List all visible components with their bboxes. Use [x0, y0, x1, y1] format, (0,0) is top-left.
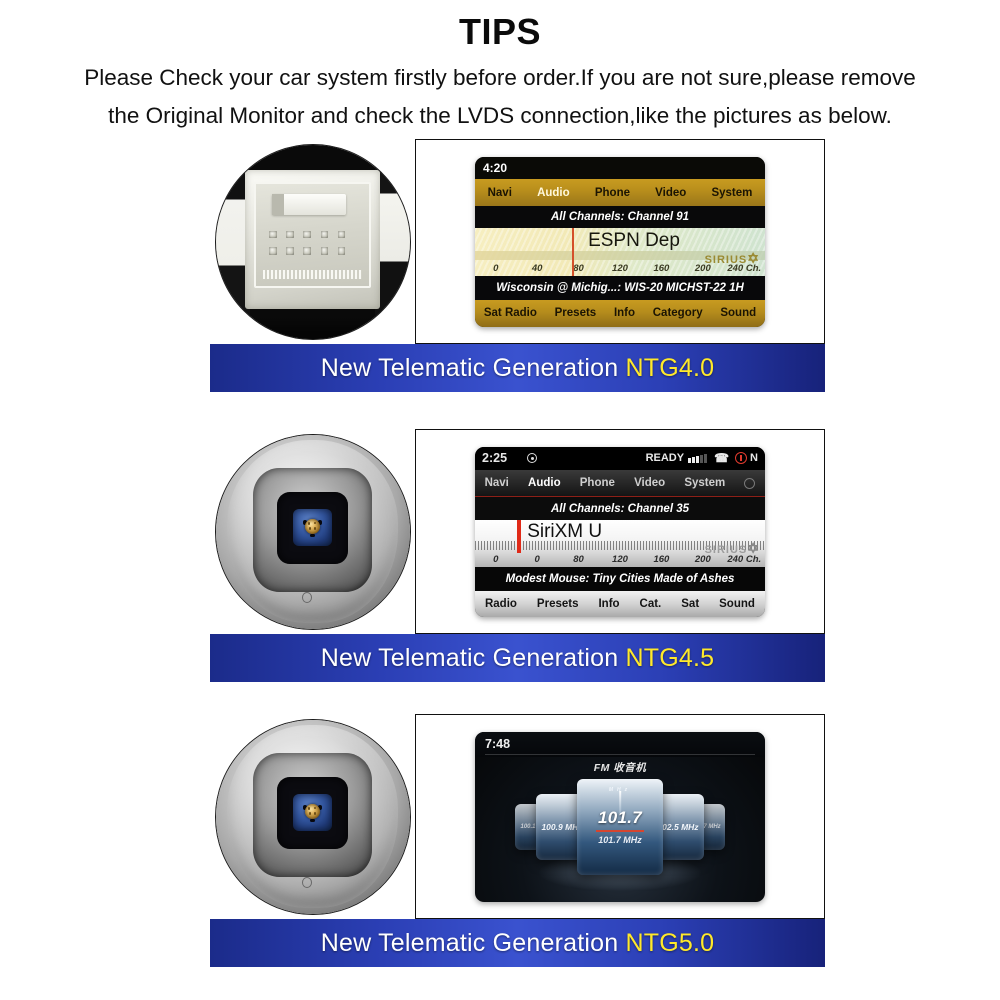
- tuner-needle-ntg45[interactable]: [517, 520, 521, 554]
- panel-ntg40-top: 4:20 Navi Audio Phone Video System All C…: [210, 139, 825, 344]
- status-ready-label: READY: [646, 452, 685, 464]
- banner-code-ntg40: NTG4.0: [625, 354, 714, 382]
- tuner-needle-ntg40[interactable]: [572, 228, 574, 276]
- head-unit-screen-ntg40: 4:20 Navi Audio Phone Video System All C…: [475, 157, 765, 327]
- page-title: TIPS: [0, 0, 1000, 51]
- bottom-item-info[interactable]: Info: [614, 307, 635, 319]
- tick-80: 80: [558, 263, 599, 274]
- bottom-item-presets[interactable]: Presets: [555, 307, 597, 319]
- banner-prefix-ntg45: New Telematic Generation: [321, 644, 619, 672]
- tick-240: 240 Ch.: [724, 554, 765, 565]
- bottom-item-cat[interactable]: Cat.: [640, 598, 662, 610]
- tick-120: 120: [599, 554, 640, 565]
- gold-center-pin-icon: [305, 519, 320, 534]
- warning-icon: [735, 452, 747, 464]
- banner-text-ntg40: New Telematic Generation NTG4.0: [321, 354, 714, 383]
- tick-b: 0: [516, 554, 557, 565]
- screen-frame-ntg45: 2:25 READY ☎ N Navi Audio Phone Video: [415, 429, 825, 634]
- frequency-carousel[interactable]: 100.1 100.9 MHz MHz 101.7 101.7 MHz: [475, 783, 765, 871]
- menu-item-phone[interactable]: Phone: [580, 477, 615, 489]
- globe-icon: [744, 478, 755, 489]
- bottom-item-presets[interactable]: Presets: [537, 598, 579, 610]
- connector-badge-icon: [302, 877, 312, 888]
- connector-badge-icon: [302, 592, 312, 603]
- clock-ntg40: 4:20: [483, 161, 507, 175]
- status-bar-ntg45: 2:25 READY ☎ N: [475, 447, 765, 471]
- connector-photo-cell-ntg45: [210, 429, 415, 634]
- menu-item-video[interactable]: Video: [634, 477, 665, 489]
- current-frequency-unit: 101.7 MHz: [598, 835, 642, 845]
- lvds-connector-icon: [216, 145, 410, 339]
- connector-photo-cell-ntg40: [210, 139, 415, 344]
- ticker-ntg45: Modest Mouse: Tiny Cities Made of Ashes: [475, 567, 765, 591]
- frequency-underline: [596, 830, 644, 832]
- channel-line-ntg40: All Channels: Channel 91: [475, 206, 765, 228]
- banner-ntg40: New Telematic Generation NTG4.0: [210, 344, 825, 392]
- bottom-bar-ntg40: Sat Radio Presets Info Category Sound: [475, 300, 765, 326]
- banner-prefix-ntg40: New Telematic Generation: [321, 354, 619, 382]
- banner-prefix-ntg50: New Telematic Generation: [321, 929, 619, 957]
- banner-code-ntg50: NTG5.0: [625, 929, 714, 957]
- bottom-item-sound[interactable]: Sound: [720, 307, 756, 319]
- menu-bar-ntg40: Navi Audio Phone Video System: [475, 179, 765, 205]
- tick-160: 160: [641, 263, 682, 274]
- bottom-item-radio[interactable]: Radio: [485, 598, 517, 610]
- tick-160: 160: [641, 554, 682, 565]
- header: TIPS Please Check your car system firstl…: [0, 0, 1000, 132]
- signal-bars-icon: [688, 454, 707, 463]
- bottom-item-category[interactable]: Category: [653, 307, 703, 319]
- tick-80: 80: [558, 554, 599, 565]
- head-unit-screen-ntg50: 7:48 FM 收音机 100.1 100.9 MHz MHz: [475, 732, 765, 902]
- white-rectangular-lvds-connector-photo: [215, 144, 411, 340]
- tick-a: 0: [475, 554, 516, 565]
- tick-200: 200: [682, 554, 723, 565]
- menu-item-audio[interactable]: Audio: [537, 187, 570, 199]
- instruction-line-2: the Original Monitor and check the LVDS …: [0, 100, 1000, 133]
- blue-apix-connector-photo-ntg50: [215, 719, 411, 915]
- tick-240: 240 Ch.: [724, 263, 765, 274]
- menu-item-video[interactable]: Video: [655, 187, 686, 199]
- tick-200: 200: [682, 263, 723, 274]
- station-name-ntg45: SiriXM U: [527, 521, 602, 543]
- menu-item-system[interactable]: System: [684, 477, 725, 489]
- menu-item-phone[interactable]: Phone: [595, 187, 630, 199]
- tuner-ticks-ntg40: 0 40 80 120 160 200 240 Ch.: [475, 263, 765, 274]
- clock-ntg50: 7:48: [485, 737, 510, 751]
- drum-selected[interactable]: MHz 101.7 101.7 MHz: [577, 779, 663, 875]
- connector-photo-cell-ntg50: [210, 714, 415, 919]
- banner-ntg45: New Telematic Generation NTG4.5: [210, 634, 825, 682]
- menu-item-navi[interactable]: Navi: [485, 477, 509, 489]
- banner-ntg50: New Telematic Generation NTG5.0: [210, 919, 825, 967]
- head-unit-screen-ntg45: 2:25 READY ☎ N Navi Audio Phone Video: [475, 447, 765, 617]
- antenna-icon: [619, 791, 621, 813]
- mode-label-ntg50: FM 收音机: [475, 760, 765, 775]
- bottom-item-sound[interactable]: Sound: [719, 598, 755, 610]
- tips-page: TIPS Please Check your car system firstl…: [0, 0, 1000, 1000]
- gold-center-pin-icon: [305, 804, 320, 819]
- banner-text-ntg45: New Telematic Generation NTG4.5: [321, 644, 714, 673]
- blue-apix-connector-photo-ntg45: [215, 434, 411, 630]
- channel-line-ntg45: All Channels: Channel 35: [475, 497, 765, 519]
- tuner-stage-ntg45[interactable]: SiriXM U SIRIUS✡ 0 0 80 120 160 200: [475, 520, 765, 568]
- phone-icon: ☎: [714, 451, 729, 465]
- apix-connector-icon: [216, 435, 410, 629]
- tuner-ticks-ntg45: 0 0 80 120 160 200 240 Ch.: [475, 554, 765, 565]
- panel-ntg50-top: 7:48 FM 收音机 100.1 100.9 MHz MHz: [210, 714, 825, 919]
- banner-text-ntg50: New Telematic Generation NTG5.0: [321, 929, 714, 958]
- instruction-line-1: Please Check your car system firstly bef…: [0, 62, 1000, 95]
- panel-ntg45-top: 2:25 READY ☎ N Navi Audio Phone Video: [210, 429, 825, 634]
- menu-bar-ntg45: Navi Audio Phone Video System: [475, 470, 765, 497]
- screen-frame-ntg50: 7:48 FM 收音机 100.1 100.9 MHz MHz: [415, 714, 825, 919]
- bottom-item-sat[interactable]: Sat: [681, 598, 699, 610]
- apix-connector-icon: [216, 720, 410, 914]
- banner-code-ntg45: NTG4.5: [625, 644, 714, 672]
- panel-ntg40: 4:20 Navi Audio Phone Video System All C…: [210, 139, 825, 392]
- tick-40: 40: [516, 263, 557, 274]
- ticker-ntg40: Wisconsin @ Michig...: WIS-20 MICHST-22 …: [475, 276, 765, 301]
- tick-0: 0: [475, 263, 516, 274]
- menu-item-system[interactable]: System: [711, 187, 752, 199]
- bottom-item-sat-radio[interactable]: Sat Radio: [484, 307, 537, 319]
- panel-ntg50: 7:48 FM 收音机 100.1 100.9 MHz MHz: [210, 714, 825, 967]
- screen-frame-ntg40: 4:20 Navi Audio Phone Video System All C…: [415, 139, 825, 344]
- status-bar-ntg50: 7:48: [475, 732, 765, 758]
- clock-ntg45: 2:25: [482, 451, 507, 465]
- tuner-stage-ntg40[interactable]: ESPN Dep SIRIUS✡ 0 40 80 120 160 200: [475, 228, 765, 276]
- bottom-bar-ntg45: Radio Presets Info Cat. Sat Sound: [475, 591, 765, 617]
- panel-ntg45: 2:25 READY ☎ N Navi Audio Phone Video: [210, 429, 825, 682]
- gear-indicator: N: [750, 452, 758, 464]
- bottom-item-info[interactable]: Info: [598, 598, 619, 610]
- menu-item-audio[interactable]: Audio: [528, 477, 561, 489]
- status-bar-ntg40: 4:20: [475, 157, 765, 180]
- tick-120: 120: [599, 263, 640, 274]
- menu-item-navi[interactable]: Navi: [488, 187, 512, 199]
- disc-icon: [527, 453, 537, 463]
